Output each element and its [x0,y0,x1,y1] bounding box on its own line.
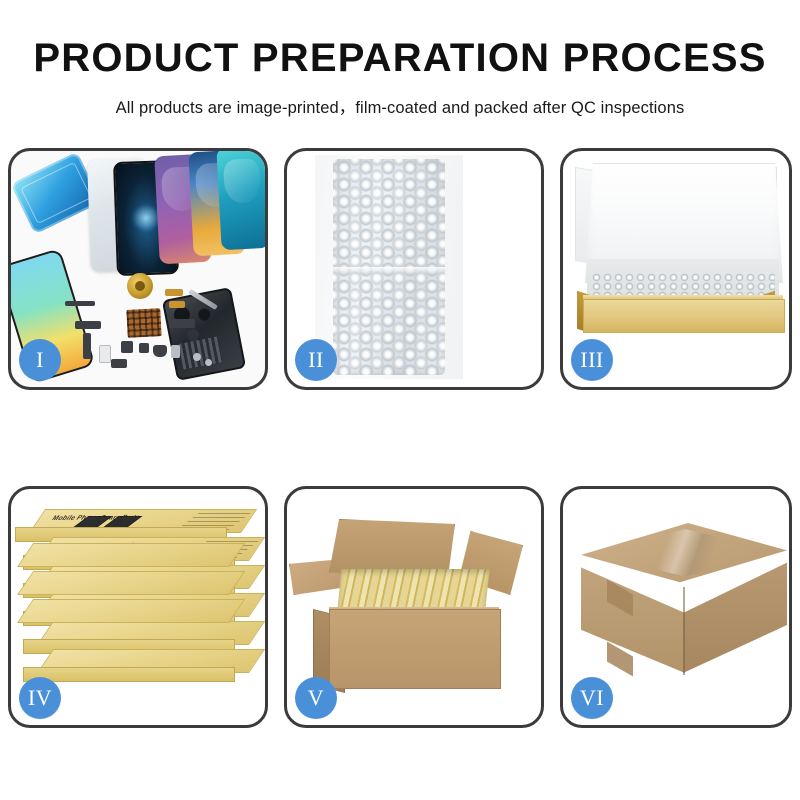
sealed-master-carton [573,523,789,691]
carton-vertical-edge [683,587,685,675]
retail-box-top-face [17,571,245,595]
step-panel-6[interactable]: VI [560,486,792,728]
panel-frame-1: I [8,148,268,390]
tweezers-tool [188,289,218,310]
retail-box-rear-layer-a [17,543,227,573]
panel-frame-3: III [560,148,792,390]
bubble-wrap-pouch [333,159,445,375]
connector-strip-part [65,301,95,306]
screw-part-b [205,359,212,366]
retail-box-top-rear: Mobile Phone Spare Parts [29,509,239,539]
panel-frame-5: V [284,486,544,728]
vibrator-part [111,359,127,368]
retail-box-top-face [17,599,245,623]
pouch-seal-line [333,267,445,274]
step-panel-1[interactable]: I [8,148,268,390]
retail-box-top-face [17,543,245,567]
screw-part-a [193,353,201,361]
retail-box-rear-layer-c [17,599,227,629]
step-panel-5[interactable]: V [284,486,544,728]
metal-bracket-part [171,345,180,358]
retail-box-side-face [23,667,235,682]
step-badge-1: I [19,339,61,381]
side-flex-part [83,333,91,359]
box-front-panel-kraft [583,299,785,333]
camera-lens-part [187,329,199,341]
step-badge-5: V [295,677,337,719]
steps-grid: I II [0,0,800,800]
open-master-carton [305,513,517,693]
retail-box-label: Mobile Phone Spare Parts [48,511,178,526]
chip-array-part [126,308,161,338]
speaker-coil-part [127,273,153,299]
ic-chip-part-b [139,343,149,353]
step-badge-3: III [571,339,613,381]
step-panel-3[interactable]: III [560,148,792,390]
ribbon-cable-part [75,321,101,329]
product-preparation-process-infographic: PRODUCT PREPARATION PROCESS All products… [0,0,800,800]
earpiece-part [153,345,167,357]
panel-frame-6: VI [560,486,792,728]
spare-parts-cluster [65,283,215,375]
step-panel-4[interactable]: Mobile Phone Spare Parts Mobile Phone Sp… [8,486,268,728]
phone-screen-teal [216,151,265,250]
panel-frame-2: II [284,148,544,390]
ic-chip-part-a [121,341,133,353]
carton-front-face [329,609,501,689]
step-badge-4: IV [19,677,61,719]
sim-tray-part [99,345,111,363]
panel-frame-4: Mobile Phone Spare Parts Mobile Phone Sp… [8,486,268,728]
retail-box-rear-layer-b [17,571,227,601]
step-panel-2[interactable]: II [284,148,544,390]
camera-flex-part [169,319,195,328]
step-badge-6: VI [571,677,613,719]
flex-cable-part-b [169,301,185,308]
retail-box-stack: Mobile Phone Spare Parts Mobile Phone Sp… [15,509,247,699]
step-badge-2: II [295,339,337,381]
retail-box-layer-6 [37,649,247,679]
flex-cable-part-a [165,289,183,296]
